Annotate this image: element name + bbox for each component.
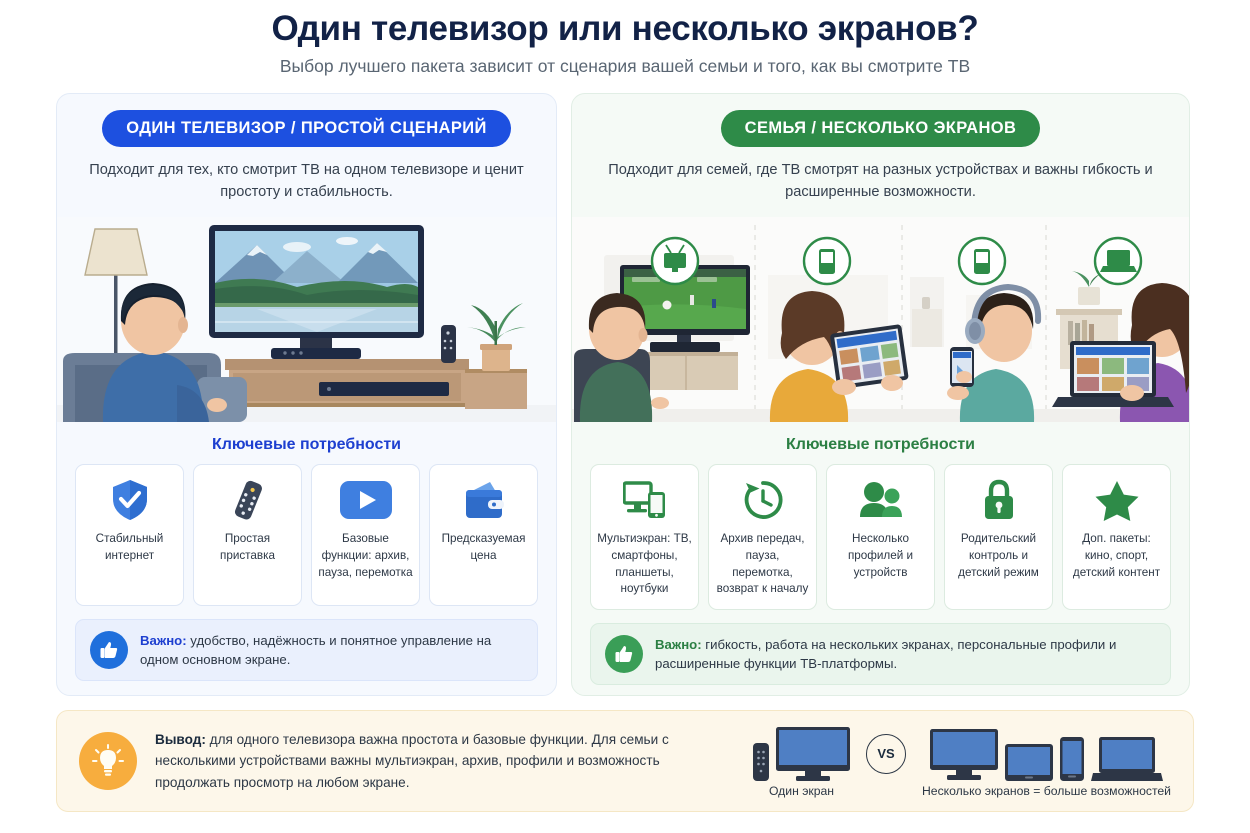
tablet-icon (1005, 744, 1053, 781)
right-panel-description: Подходит для семей, где ТВ смотрят на ра… (572, 147, 1189, 203)
tv-console (225, 359, 469, 407)
card-multiscreen[interactable]: Мультиэкран: ТВ, смартфоны, планшеты, но… (590, 464, 699, 609)
lock-icon (981, 478, 1017, 522)
remote-control (441, 325, 456, 363)
card-label: Родительский контроль и детский режим (950, 531, 1047, 581)
card-label: Мультиэкран: ТВ, смартфоны, планшеты, но… (596, 531, 693, 597)
users-profiles-icon (858, 478, 904, 522)
card-label: Несколько профилей и устройств (832, 531, 929, 581)
panel-multi-screen: СЕМЬЯ / НЕСКОЛЬКО ЭКРАНОВ Подходит для с… (571, 93, 1190, 696)
vs-badge: VS (866, 734, 906, 774)
single-screen-icons (753, 723, 850, 781)
conclusion-text: Вывод: для одного телевизора важна прост… (155, 729, 731, 793)
smartphone-icon (974, 249, 990, 274)
tv-screen-icon (776, 727, 850, 781)
panels-container: ОДИН ТЕЛЕВИЗОР / ПРОСТОЙ СЦЕНАРИЙ Подход… (0, 77, 1250, 696)
left-note-lead: Важно: (140, 633, 187, 648)
right-panel-badge: СЕМЬЯ / НЕСКОЛЬКО ЭКРАНОВ (721, 110, 1041, 147)
right-note-text: Важно: гибкость, работа на нескольких эк… (655, 635, 1156, 673)
multi-screen-group: Несколько экранов = больше возможностей (922, 723, 1171, 798)
left-key-needs-title: Ключевые потребности (57, 436, 556, 454)
devices-comparison: Один экран VS (749, 723, 1171, 798)
single-screen-group: Один экран (753, 723, 850, 798)
remote-control-icon (753, 743, 769, 781)
living-room-single-tv-scene (57, 217, 556, 422)
card-label: Доп. пакеты: кино, спорт, детский контен… (1068, 531, 1165, 581)
panel-single-tv: ОДИН ТЕЛЕВИЗОР / ПРОСТОЙ СЦЕНАРИЙ Подход… (56, 93, 557, 696)
card-basic-functions[interactable]: Базовые функции: архив, пауза, перемотка (311, 464, 420, 606)
multiscreen-icon (623, 478, 667, 522)
tv-screen-icon (930, 729, 998, 781)
right-key-needs-title: Ключевые потребности (572, 436, 1189, 454)
four-screens-family-scene (572, 217, 1189, 422)
card-label: Предсказуемая цена (435, 531, 532, 564)
tablet-icon (819, 249, 835, 274)
header: Один телевизор или несколько экранов? Вы… (0, 0, 1250, 77)
conclusion-body: для одного телевизора важна простота и б… (155, 732, 669, 790)
infographic-page: Один телевизор или несколько экранов? Вы… (0, 0, 1250, 833)
right-cards-row: Мультиэкран: ТВ, смартфоны, планшеты, но… (572, 464, 1189, 609)
page-subtitle: Выбор лучшего пакета зависит от сценария… (0, 56, 1250, 77)
page-title: Один телевизор или несколько экранов? (0, 9, 1250, 49)
thumbs-up-icon (605, 635, 643, 673)
remote-control-icon (228, 478, 268, 522)
card-simple-set-top-box[interactable]: Простая приставка (193, 464, 302, 606)
left-note-body: удобство, надёжность и понятное управлен… (140, 633, 491, 667)
conclusion-lead: Вывод: (155, 732, 206, 747)
shield-check-icon (111, 478, 149, 522)
left-panel-description: Подходит для тех, кто смотрит ТВ на одно… (57, 147, 556, 203)
conclusion-bar: Вывод: для одного телевизора важна прост… (56, 710, 1194, 812)
history-clock-icon (742, 478, 784, 522)
wallet-icon (463, 478, 505, 522)
card-extra-packages[interactable]: Доп. пакеты: кино, спорт, детский контен… (1062, 464, 1171, 609)
left-note-text: Важно: удобство, надёжность и понятное у… (140, 631, 523, 669)
star-icon (1095, 478, 1139, 522)
single-screen-caption: Один экран (769, 784, 834, 798)
right-note-lead: Важно: (655, 637, 702, 652)
card-stable-internet[interactable]: Стабильный интернет (75, 464, 184, 606)
lightbulb-icon (79, 732, 137, 790)
left-panel-badge: ОДИН ТЕЛЕВИЗОР / ПРОСТОЙ СЦЕНАРИЙ (102, 110, 511, 147)
laptop-icon (1091, 737, 1163, 781)
left-cards-row: Стабильный интернет (57, 464, 556, 606)
card-archive-pause[interactable]: Архив передач, пауза, перемотка, возврат… (708, 464, 817, 609)
card-predictable-price[interactable]: Предсказуемая цена (429, 464, 538, 606)
left-important-note: Важно: удобство, надёжность и понятное у… (75, 619, 538, 681)
right-note-body: гибкость, работа на нескольких экранах, … (655, 637, 1116, 671)
thumbs-up-icon (90, 631, 128, 669)
multi-screen-icons (930, 723, 1163, 781)
right-badge-wrap: СЕМЬЯ / НЕСКОЛЬКО ЭКРАНОВ (572, 94, 1189, 147)
card-label: Стабильный интернет (81, 531, 178, 564)
card-profiles-devices[interactable]: Несколько профилей и устройств (826, 464, 935, 609)
card-parental-control[interactable]: Родительский контроль и детский режим (944, 464, 1053, 609)
card-label: Базовые функции: архив, пауза, перемотка (317, 531, 414, 581)
left-badge-wrap: ОДИН ТЕЛЕВИЗОР / ПРОСТОЙ СЦЕНАРИЙ (57, 94, 556, 147)
card-label: Простая приставка (199, 531, 296, 564)
play-button-icon (340, 478, 392, 522)
multi-screen-caption: Несколько экранов = больше возможностей (922, 784, 1171, 798)
card-label: Архив передач, пауза, перемотка, возврат… (714, 531, 811, 597)
right-important-note: Важно: гибкость, работа на нескольких эк… (590, 623, 1171, 685)
smartphone-icon (1060, 737, 1084, 781)
